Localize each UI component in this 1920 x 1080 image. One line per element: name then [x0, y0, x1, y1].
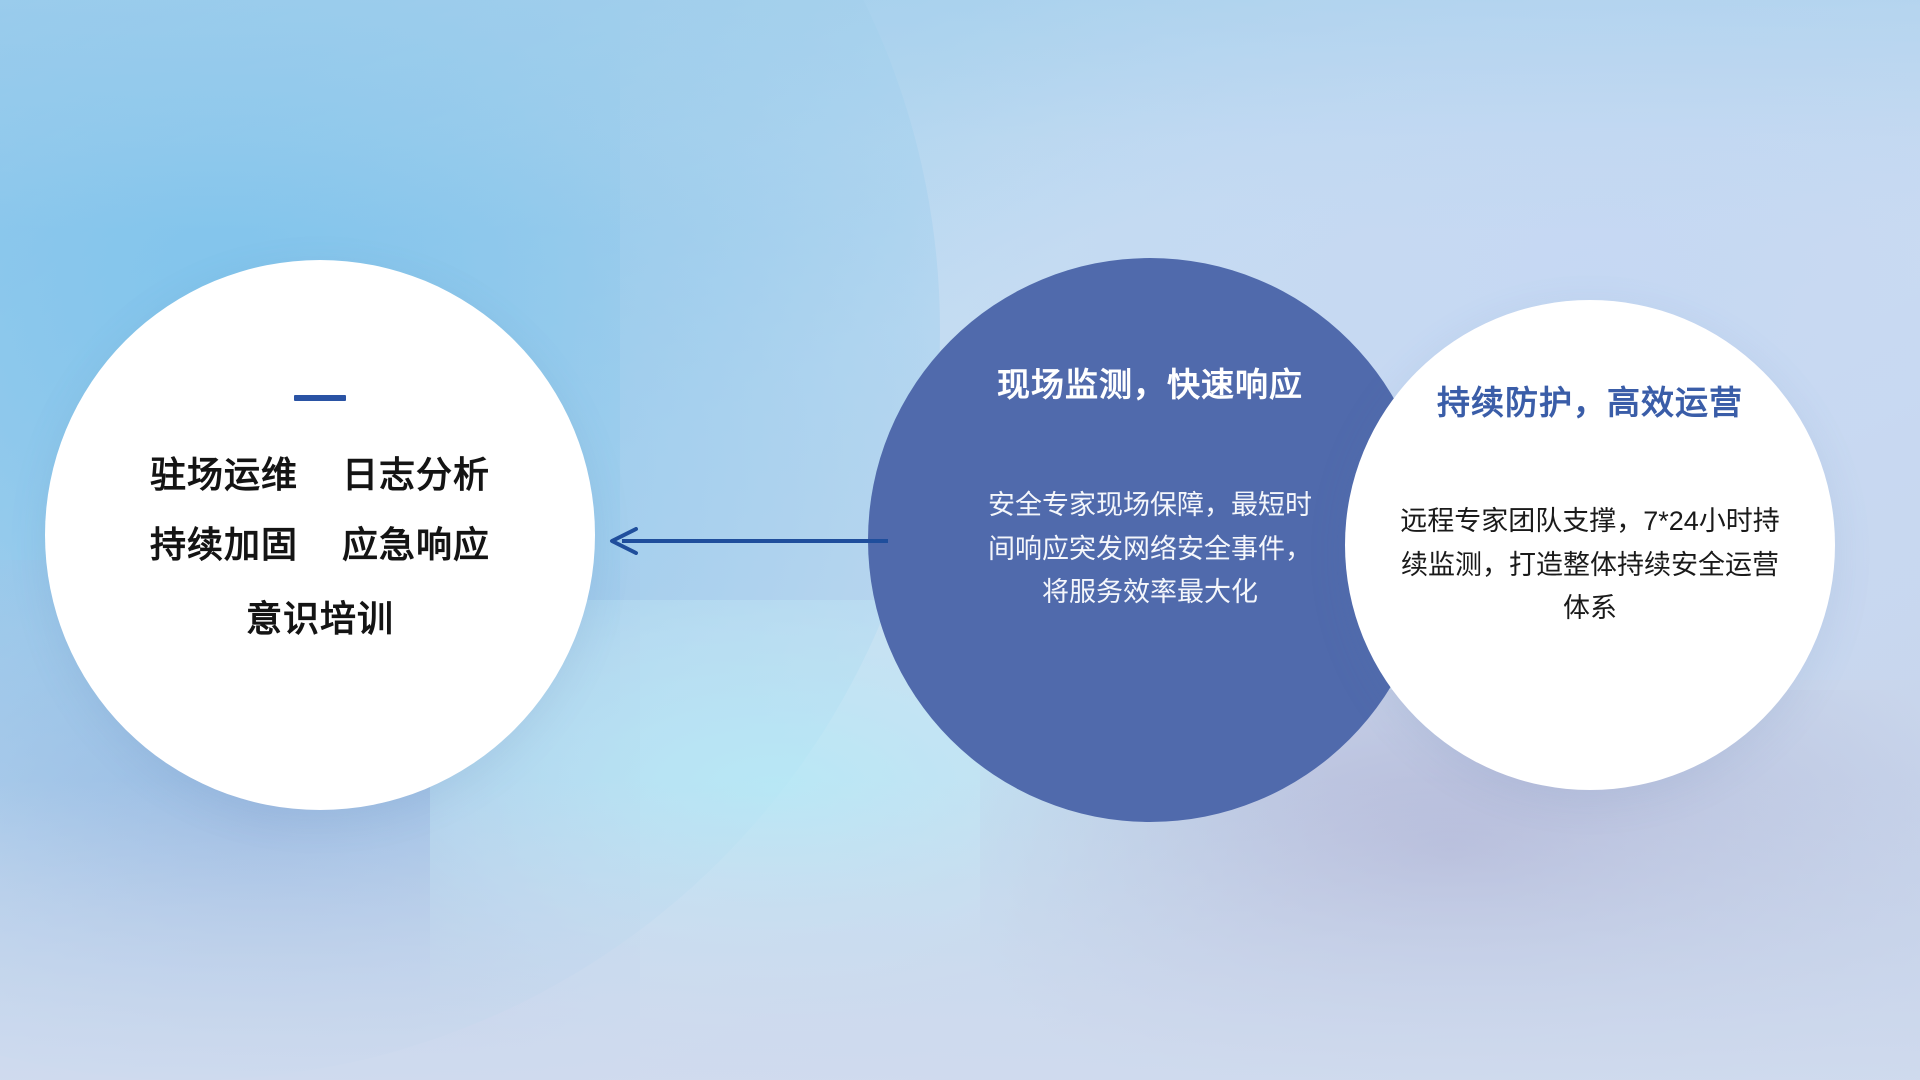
background-top-fade — [0, 0, 1920, 230]
right-circle-body: 远程专家团队支撑，7*24小时持续监测，打造整体持续安全运营体系 — [1390, 500, 1790, 631]
left-keyword-row-1: 驻场运维 日志分析 — [150, 457, 490, 493]
left-keyword-row-2: 持续加固 应急响应 — [150, 527, 490, 563]
right-circle-title: 持续防护，高效运营 — [1437, 376, 1743, 424]
horizontal-dash-icon — [294, 395, 346, 401]
center-circle-title: 现场监测，快速响应 — [997, 358, 1303, 406]
right-circle-content: 持续防护，高效运营 远程专家团队支撑，7*24小时持续监测，打造整体持续安全运营… — [1345, 300, 1835, 790]
background-bottom-fade — [0, 780, 1920, 1080]
left-keyword-row-3: 意识培训 — [246, 601, 394, 637]
arrow-left-icon — [600, 527, 890, 555]
center-circle-body: 安全专家现场保障，最短时间响应突发网络安全事件，将服务效率最大化 — [985, 484, 1315, 615]
left-circle-content: 驻场运维 日志分析 持续加固 应急响应 意识培训 — [45, 260, 595, 810]
